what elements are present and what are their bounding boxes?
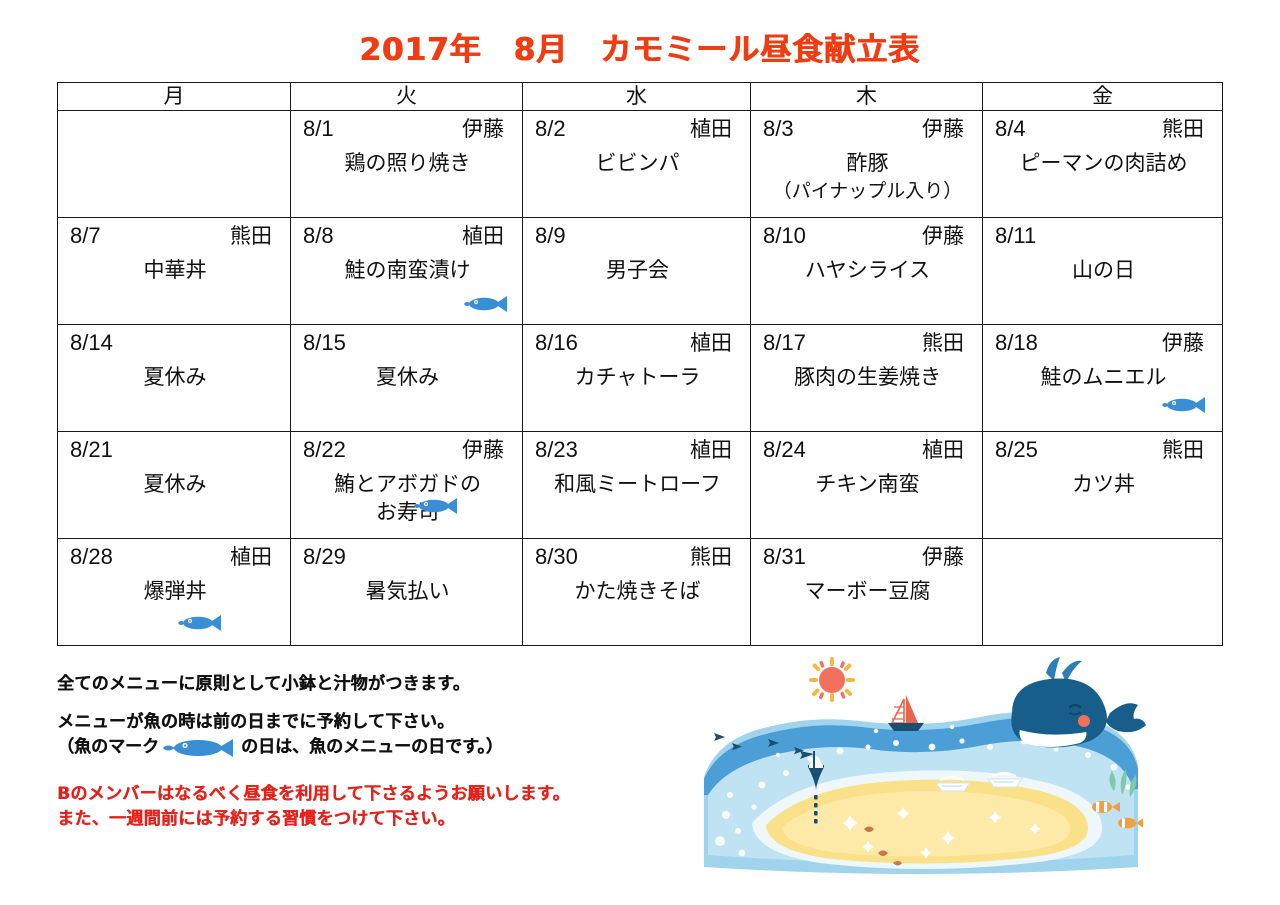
day-date: 8/28 <box>70 543 113 570</box>
fish-icon <box>178 613 224 633</box>
calendar-day-cell: 8/22伊藤鮪とアボガドの お寿司 <box>291 432 523 539</box>
day-menu: 山の日 <box>995 257 1212 285</box>
day-cell-header: 8/30熊田 <box>535 543 740 571</box>
day-date: 8/10 <box>763 222 806 249</box>
day-cell-inner: 8/8植田鮭の南蛮漬け <box>291 218 522 324</box>
day-menu: 夏休み <box>303 364 512 392</box>
day-cell-inner: 8/1伊藤鶏の照り焼き <box>291 111 522 217</box>
calendar-day-cell: 8/21夏休み <box>58 432 291 539</box>
note-fish-reservation: メニューが魚の時は前の日までに予約して下さい。 <box>57 710 697 735</box>
day-cell-header: 8/25熊田 <box>995 436 1212 464</box>
day-menu: 鮭の南蛮漬け <box>303 257 512 285</box>
day-date: 8/4 <box>995 115 1026 142</box>
day-cell-inner: 8/22伊藤鮪とアボガドの お寿司 <box>291 432 522 538</box>
day-cell-inner: 8/15夏休み <box>291 325 522 431</box>
menu-calendar-table: 月 火 水 木 金 8/1伊藤鶏の照り焼き8/2植田ビビンパ8/3伊藤酢豚（パイ… <box>57 82 1223 646</box>
day-date: 8/31 <box>763 543 806 570</box>
calendar-day-cell: 8/7熊田中華丼 <box>58 218 291 325</box>
calendar-day-cell: 8/23植田和風ミートローフ <box>523 432 751 539</box>
day-staff-name: 熊田 <box>1162 437 1212 464</box>
day-cell-inner: 8/25熊田カツ丼 <box>983 432 1222 538</box>
calendar-day-cell: 8/1伊藤鶏の照り焼き <box>291 111 523 218</box>
weekday-header-thu: 木 <box>751 83 983 111</box>
day-staff-name: 伊藤 <box>462 437 512 464</box>
day-cell-header: 8/10伊藤 <box>763 222 972 250</box>
note-side-dishes: 全てのメニューに原則として小鉢と汁物がつきます。 <box>57 672 697 697</box>
day-menu-note: （パイナップル入り） <box>763 178 972 206</box>
day-menu: 暑気払い <box>303 578 512 606</box>
day-cell-header: 8/3伊藤 <box>763 115 972 143</box>
calendar-day-cell: 8/11山の日 <box>983 218 1223 325</box>
weekday-header-wed: 水 <box>523 83 751 111</box>
day-cell-header: 8/4熊田 <box>995 115 1212 143</box>
day-menu: 鮭のムニエル <box>995 364 1212 392</box>
day-date: 8/9 <box>535 222 566 249</box>
day-date: 8/24 <box>763 436 806 463</box>
note-fish-mark-prefix: （魚のマーク <box>57 735 159 760</box>
day-date: 8/1 <box>303 115 334 142</box>
calendar-day-cell: 8/10伊藤ハヤシライス <box>751 218 983 325</box>
day-cell-inner: 8/18伊藤鮭のムニエル <box>983 325 1222 431</box>
day-cell-header: 8/29 <box>303 543 512 571</box>
day-cell-header: 8/8植田 <box>303 222 512 250</box>
calendar-week-row: 8/1伊藤鶏の照り焼き8/2植田ビビンパ8/3伊藤酢豚（パイナップル入り）8/4… <box>58 111 1223 218</box>
calendar-week-row: 8/7熊田中華丼8/8植田鮭の南蛮漬け 8/9男子会8/10伊藤ハヤシライス8/… <box>58 218 1223 325</box>
calendar-empty-cell <box>58 111 291 218</box>
day-date: 8/11 <box>995 222 1036 249</box>
day-date: 8/14 <box>70 329 113 356</box>
calendar-day-cell: 8/31伊藤マーボー豆腐 <box>751 539 983 646</box>
calendar-day-cell: 8/8植田鮭の南蛮漬け <box>291 218 523 325</box>
day-staff-name: 伊藤 <box>922 116 972 143</box>
note-fish-mark-suffix: の日は、魚のメニューの日です。） <box>241 735 503 760</box>
sailboat-icon <box>888 695 924 731</box>
note-b-member-request: Bのメンバーはなるべく昼食を利用して下さるようお願いします。 <box>57 782 697 807</box>
day-cell-inner: 8/30熊田かた焼きそば <box>523 539 750 645</box>
calendar-day-cell: 8/18伊藤鮭のムニエル <box>983 325 1223 432</box>
day-cell-header: 8/14 <box>70 329 280 357</box>
day-staff-name: 熊田 <box>230 223 280 250</box>
day-cell-inner: 8/17熊田豚肉の生姜焼き <box>751 325 982 431</box>
day-date: 8/18 <box>995 329 1038 356</box>
calendar-day-cell: 8/29暑気払い <box>291 539 523 646</box>
calendar-day-cell: 8/4熊田ピーマンの肉詰め <box>983 111 1223 218</box>
day-cell-inner: 8/29暑気払い <box>291 539 522 645</box>
day-menu: 鶏の照り焼き <box>303 150 512 178</box>
day-cell-header: 8/28植田 <box>70 543 280 571</box>
day-staff-name: 熊田 <box>922 330 972 357</box>
day-cell-header: 8/11 <box>995 222 1212 250</box>
day-cell-header: 8/2植田 <box>535 115 740 143</box>
weekday-header-fri: 金 <box>983 83 1223 111</box>
day-menu: カチャトーラ <box>535 364 740 392</box>
day-date: 8/23 <box>535 436 578 463</box>
day-cell-inner: 8/16植田カチャトーラ <box>523 325 750 431</box>
note-advance-reservation: また、一週間前には予約する習慣をつけて下さい。 <box>57 807 697 832</box>
calendar-day-cell: 8/9男子会 <box>523 218 751 325</box>
day-date: 8/30 <box>535 543 578 570</box>
day-cell-header: 8/22伊藤 <box>303 436 512 464</box>
calendar-week-row: 8/14夏休み8/15夏休み8/16植田カチャトーラ8/17熊田豚肉の生姜焼き8… <box>58 325 1223 432</box>
day-cell-inner: 8/28植田爆弾丼 <box>58 539 290 645</box>
day-cell-header: 8/15 <box>303 329 512 357</box>
calendar-week-row: 8/21夏休み8/22伊藤鮪とアボガドの お寿司 8/23植田和風ミートローフ8… <box>58 432 1223 539</box>
page-title: 2017年 8月 カモミール昼食献立表 <box>0 24 1280 69</box>
day-cell-inner: 8/31伊藤マーボー豆腐 <box>751 539 982 645</box>
day-cell-header: 8/9 <box>535 222 740 250</box>
summer-beach-whale-illustration <box>690 655 1150 900</box>
day-menu: ピーマンの肉詰め <box>995 150 1212 178</box>
day-staff-name: 植田 <box>462 223 512 250</box>
day-menu: 夏休み <box>70 364 280 392</box>
day-staff-name: 植田 <box>230 544 280 571</box>
day-cell-header: 8/16植田 <box>535 329 740 357</box>
calendar-day-cell: 8/2植田ビビンパ <box>523 111 751 218</box>
day-date: 8/15 <box>303 329 346 356</box>
day-date: 8/21 <box>70 436 113 463</box>
day-date: 8/8 <box>303 222 334 249</box>
day-menu: マーボー豆腐 <box>763 578 972 606</box>
day-date: 8/7 <box>70 222 101 249</box>
day-menu: 豚肉の生姜焼き <box>763 364 972 392</box>
day-date: 8/3 <box>763 115 794 142</box>
note-fish-mark-legend: （魚のマーク の日は、魚のメニューの日です。） <box>57 735 697 760</box>
day-cell-inner: 8/7熊田中華丼 <box>58 218 290 324</box>
calendar-day-cell: 8/3伊藤酢豚（パイナップル入り） <box>751 111 983 218</box>
day-staff-name: 伊藤 <box>1162 330 1212 357</box>
day-cell-header: 8/17熊田 <box>763 329 972 357</box>
whale-icon <box>1011 657 1146 748</box>
day-cell-inner: 8/14夏休み <box>58 325 290 431</box>
day-menu: 酢豚 <box>763 150 972 178</box>
calendar-week-row: 8/28植田爆弾丼 8/29暑気払い8/30熊田かた焼きそば8/31伊藤マーボー… <box>58 539 1223 646</box>
day-cell-header: 8/23植田 <box>535 436 740 464</box>
day-cell-header: 8/24植田 <box>763 436 972 464</box>
day-menu: チキン南蛮 <box>763 471 972 499</box>
day-cell-inner: 8/3伊藤酢豚（パイナップル入り） <box>751 111 982 217</box>
fish-icon <box>1162 395 1208 415</box>
day-cell-inner: 8/24植田チキン南蛮 <box>751 432 982 538</box>
sun-icon <box>809 657 855 702</box>
day-cell-header: 8/1伊藤 <box>303 115 512 143</box>
day-cell-inner <box>58 111 290 217</box>
day-cell-header: 8/31伊藤 <box>763 543 972 571</box>
day-staff-name: 熊田 <box>690 544 740 571</box>
day-menu: 中華丼 <box>70 257 280 285</box>
day-staff-name: 熊田 <box>1162 116 1212 143</box>
day-cell-inner: 8/9男子会 <box>523 218 750 324</box>
day-cell-header: 8/21 <box>70 436 280 464</box>
day-cell-inner <box>983 539 1222 645</box>
calendar-day-cell: 8/16植田カチャトーラ <box>523 325 751 432</box>
calendar-empty-cell <box>983 539 1223 646</box>
day-date: 8/29 <box>303 543 346 570</box>
day-date: 8/2 <box>535 115 566 142</box>
fish-icon <box>464 294 510 314</box>
day-menu: ビビンパ <box>535 150 740 178</box>
day-cell-header: 8/18伊藤 <box>995 329 1212 357</box>
calendar-day-cell: 8/24植田チキン南蛮 <box>751 432 983 539</box>
calendar-day-cell: 8/25熊田カツ丼 <box>983 432 1223 539</box>
day-menu: 夏休み <box>70 471 280 499</box>
calendar-day-cell: 8/17熊田豚肉の生姜焼き <box>751 325 983 432</box>
calendar-day-cell: 8/28植田爆弾丼 <box>58 539 291 646</box>
footer-notes: 全てのメニューに原則として小鉢と汁物がつきます。 メニューが魚の時は前の日までに… <box>57 672 697 832</box>
day-menu: 鮪とアボガドの お寿司 <box>303 471 512 527</box>
fish-icon <box>163 737 237 759</box>
day-staff-name: 伊藤 <box>462 116 512 143</box>
calendar-day-cell: 8/30熊田かた焼きそば <box>523 539 751 646</box>
day-menu: 和風ミートローフ <box>535 471 740 499</box>
day-staff-name: 植田 <box>922 437 972 464</box>
day-date: 8/17 <box>763 329 806 356</box>
day-cell-inner: 8/21夏休み <box>58 432 290 538</box>
day-staff-name: 植田 <box>690 437 740 464</box>
calendar-day-cell: 8/14夏休み <box>58 325 291 432</box>
weekday-header-row: 月 火 水 木 金 <box>58 83 1223 111</box>
weekday-header-mon: 月 <box>58 83 291 111</box>
day-menu: カツ丼 <box>995 471 1212 499</box>
day-menu: 男子会 <box>535 257 740 285</box>
day-menu: 爆弾丼 <box>70 578 280 606</box>
day-cell-inner: 8/10伊藤ハヤシライス <box>751 218 982 324</box>
day-date: 8/16 <box>535 329 578 356</box>
calendar-day-cell: 8/15夏休み <box>291 325 523 432</box>
day-cell-inner: 8/23植田和風ミートローフ <box>523 432 750 538</box>
fish-icon <box>414 496 460 516</box>
day-menu: かた焼きそば <box>535 578 740 606</box>
day-staff-name: 伊藤 <box>922 544 972 571</box>
day-date: 8/22 <box>303 436 346 463</box>
day-cell-inner: 8/4熊田ピーマンの肉詰め <box>983 111 1222 217</box>
day-menu: ハヤシライス <box>763 257 972 285</box>
day-staff-name: 植田 <box>690 116 740 143</box>
day-staff-name: 伊藤 <box>922 223 972 250</box>
weekday-header-tue: 火 <box>291 83 523 111</box>
day-cell-header: 8/7熊田 <box>70 222 280 250</box>
day-staff-name: 植田 <box>690 330 740 357</box>
day-cell-inner: 8/11山の日 <box>983 218 1222 324</box>
day-date: 8/25 <box>995 436 1038 463</box>
day-cell-inner: 8/2植田ビビンパ <box>523 111 750 217</box>
